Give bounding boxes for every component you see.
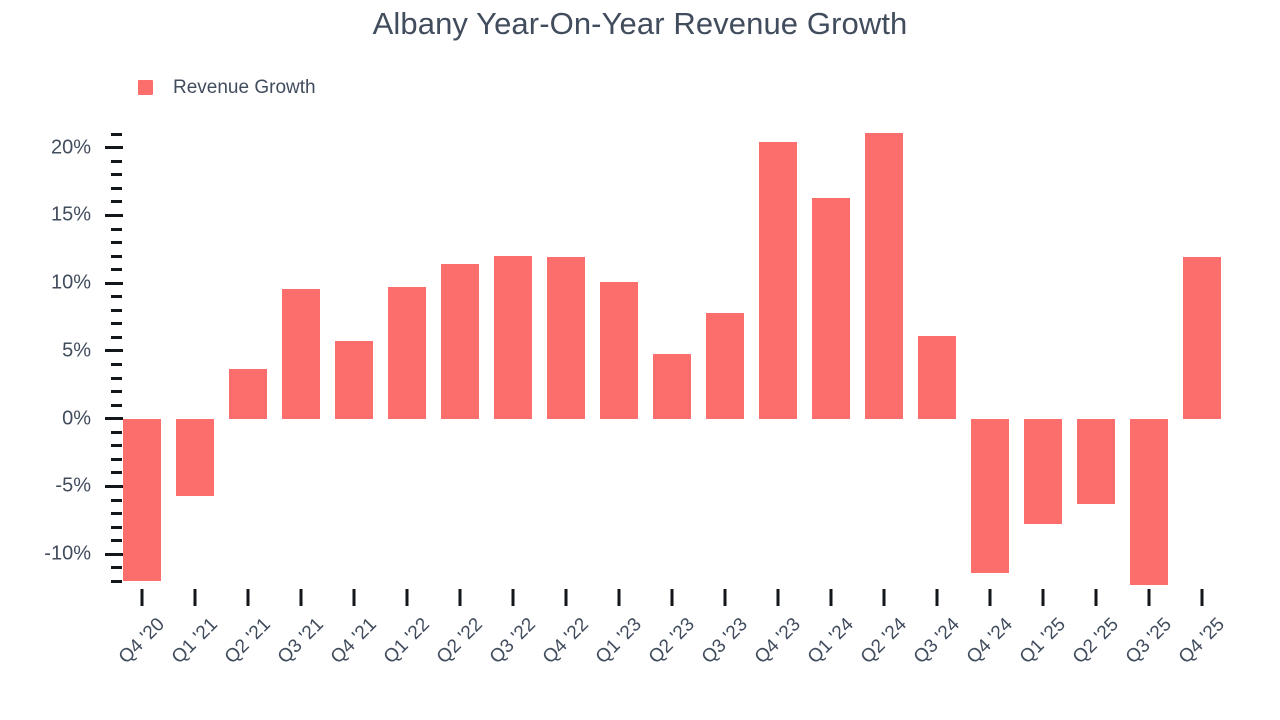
bar[interactable] [494,256,532,419]
bar[interactable] [1077,419,1115,504]
bar[interactable] [282,289,320,419]
bar[interactable] [123,419,161,582]
bar[interactable] [918,336,956,419]
bar[interactable] [388,287,426,418]
bar[interactable] [335,341,373,418]
bar[interactable] [1130,419,1168,586]
bar-series-revenue-growth [0,0,1280,720]
bar[interactable] [653,354,691,419]
bar[interactable] [441,264,479,418]
bar[interactable] [176,419,214,496]
plot-area: 20%15%10%5%0%-5%-10% Q4 '20Q1 '21Q2 '21Q… [0,0,1280,720]
bar[interactable] [600,282,638,419]
bar[interactable] [1024,419,1062,525]
chart-container: Albany Year-On-Year Revenue Growth Reven… [0,0,1280,720]
bar[interactable] [865,133,903,419]
bar[interactable] [1183,257,1221,418]
bar[interactable] [759,142,797,418]
bar[interactable] [971,419,1009,573]
bar[interactable] [547,257,585,418]
bar[interactable] [706,313,744,419]
bar[interactable] [229,369,267,419]
bar[interactable] [812,198,850,419]
